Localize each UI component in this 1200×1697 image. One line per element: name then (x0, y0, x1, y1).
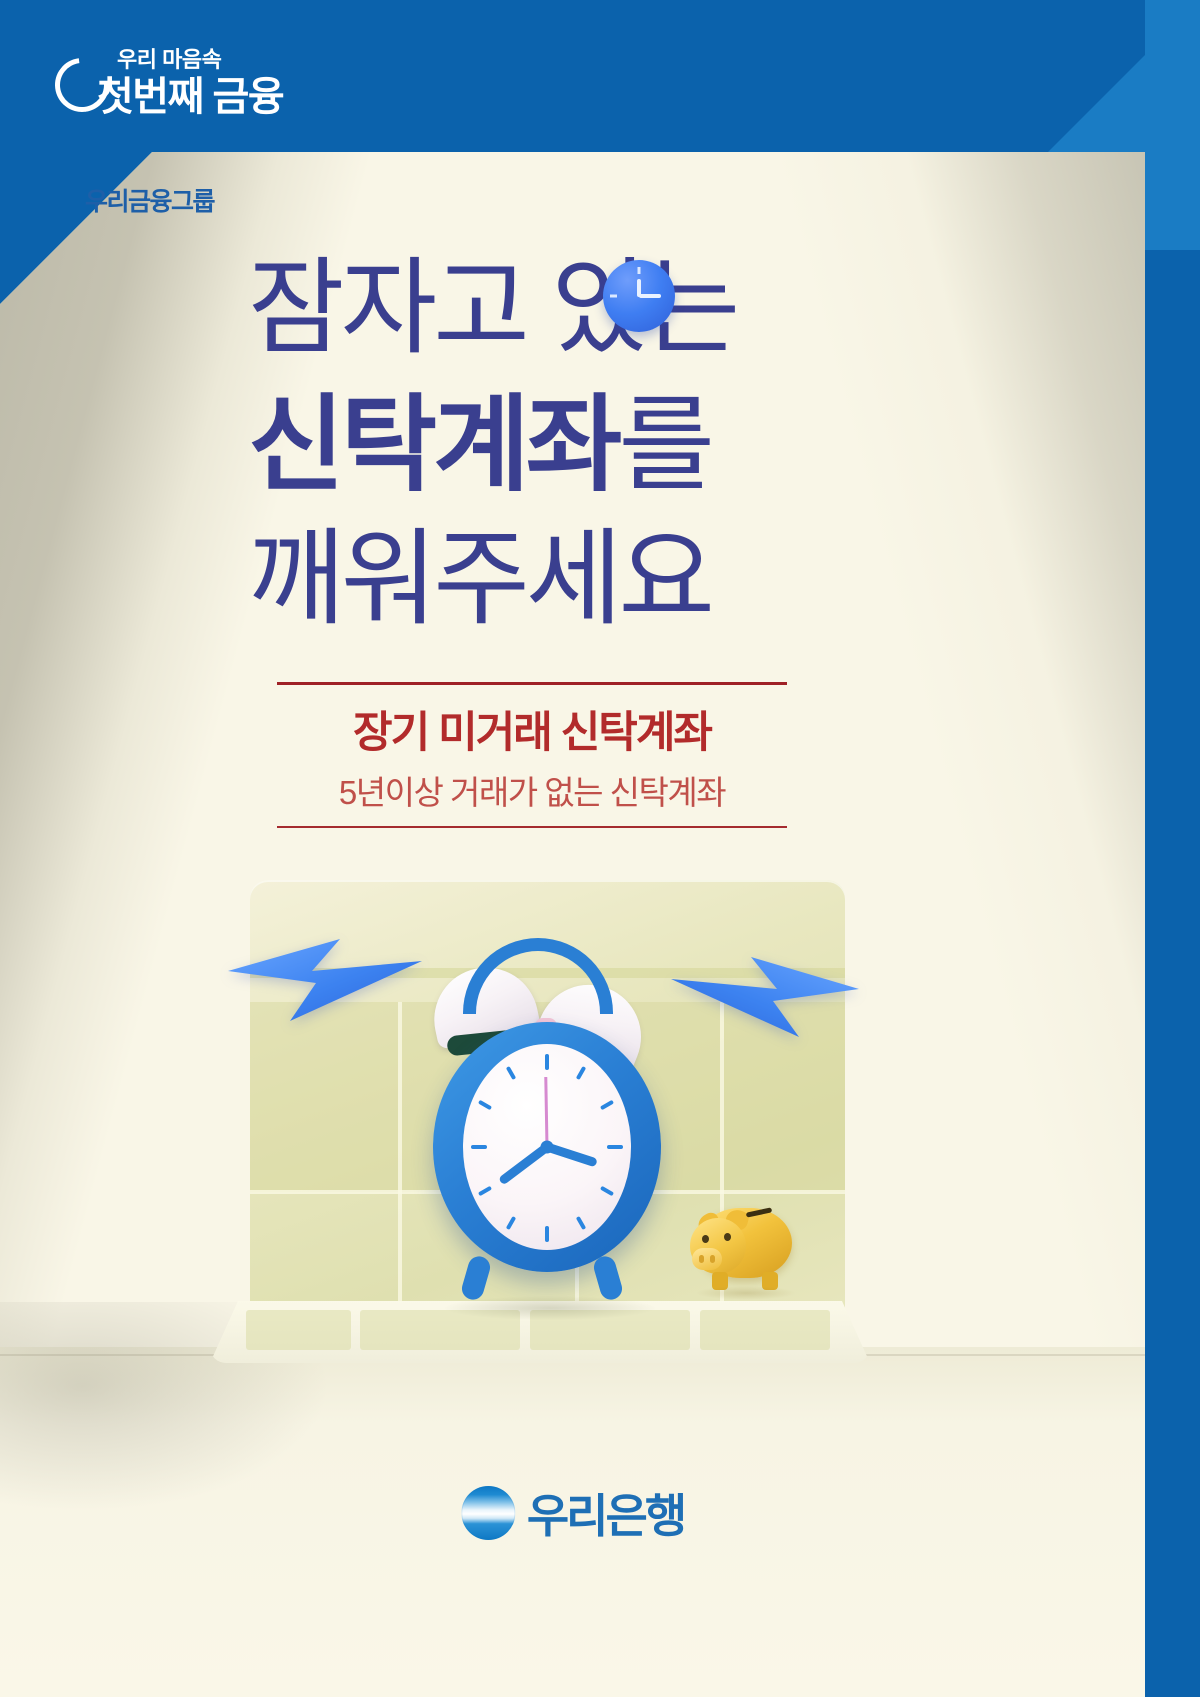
screen-divider (398, 1002, 402, 1322)
clock-pivot (541, 1141, 554, 1154)
blue-right-strip-top (1145, 0, 1200, 250)
header-brand-name: 첫번째 금융 (97, 64, 283, 122)
clock-tick (545, 1226, 549, 1242)
clock-tick (545, 1054, 549, 1070)
keyboard-key (246, 1310, 351, 1350)
clock-tick (471, 1145, 487, 1149)
piggy-bank-icon (690, 1190, 800, 1295)
illustration (210, 865, 870, 1345)
headline-particle: 를 (618, 387, 711, 504)
headline-block: 잠자고 있는 신탁계좌를 깨워주세요 (248, 240, 888, 647)
clock-icon (603, 260, 675, 332)
piggy-eye (724, 1233, 731, 1241)
clock-tick (607, 1145, 623, 1149)
clock-tick (576, 1066, 586, 1080)
headline-line-2: 신탁계좌를 (248, 379, 888, 513)
clock-minute-hand (639, 294, 661, 298)
keyboard-key (700, 1310, 830, 1350)
headline-line-1: 잠자고 있는 (248, 240, 888, 379)
header-brand-logo: 우리 마음속 첫번째 금융 (55, 36, 385, 126)
piggy-shadow (696, 1286, 796, 1300)
lightning-bolt-icon (220, 925, 430, 1030)
subhead-rule-top (277, 682, 787, 685)
clock-tick (576, 1216, 586, 1230)
piggy-nostril (699, 1255, 704, 1263)
clock-tick (600, 1100, 614, 1110)
footer: 우리은행 (0, 1480, 1145, 1600)
group-name-label: 우리금융그룹 (85, 182, 214, 218)
clock-second-hand (544, 1077, 548, 1149)
woori-bank-name: 우리은행 (527, 1480, 684, 1546)
clock-tick (506, 1216, 516, 1230)
poster-root: 우리 마음속 첫번째 금융 우리금융그룹 잠자고 있는 신탁계좌를 깨워주세요 … (0, 0, 1200, 1697)
subhead-title: 장기 미거래 신탁계좌 (277, 698, 787, 760)
clock-case (433, 1022, 661, 1272)
clock-tick (600, 1186, 614, 1196)
lightning-bolt-icon (665, 945, 865, 1045)
piggy-snout (692, 1248, 722, 1270)
headline-emphasis: 신탁계좌 (248, 387, 618, 504)
alarm-clock-icon (425, 960, 675, 1290)
subhead-block: 장기 미거래 신탁계좌 5년이상 거래가 없는 신탁계좌 (277, 682, 787, 828)
clock-face (463, 1044, 631, 1250)
blue-right-strip (1145, 0, 1200, 1697)
woori-wave-icon (461, 1486, 515, 1540)
clock-tick (478, 1100, 492, 1110)
headline-line-3: 깨워주세요 (248, 513, 888, 647)
clock-tick-left (610, 295, 617, 298)
subhead-rule-bottom (277, 826, 787, 828)
subhead-description: 5년이상 거래가 없는 신탁계좌 (277, 766, 787, 814)
piggy-nostril (710, 1255, 715, 1263)
clock-tick (506, 1066, 516, 1080)
woori-bank-logo: 우리은행 (461, 1480, 684, 1546)
piggy-eye (702, 1235, 709, 1243)
clock-tick (478, 1186, 492, 1196)
clock-shadow (445, 1296, 655, 1320)
clock-tick-top (638, 267, 641, 274)
